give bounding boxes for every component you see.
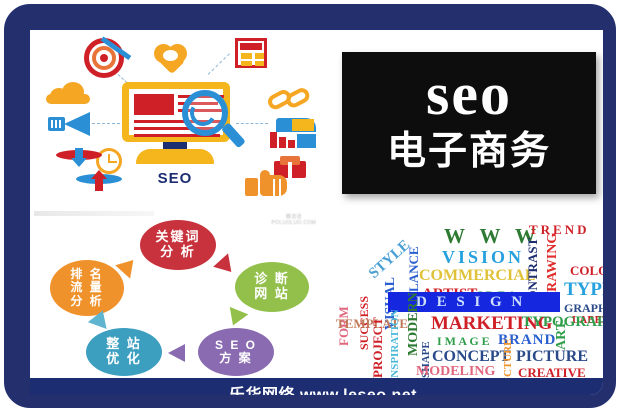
cycle-arrow-red [213, 253, 239, 278]
bar-chart-icon [270, 118, 316, 148]
node-line: 分 析 [160, 245, 196, 260]
tile-seo-infographic: SEO [30, 30, 322, 206]
word-modeling: MODELING [416, 364, 495, 378]
word-picture: PICTURE [516, 348, 588, 366]
tile-seo-black-plate: seo 电子商务 [326, 30, 616, 206]
seo-infographic-illustration: SEO [30, 30, 322, 206]
cycle-arrow-green [224, 307, 249, 329]
clock-hand-2-icon [108, 161, 117, 163]
node-line: 网 站 [254, 287, 290, 302]
monitor-base [136, 149, 214, 164]
calculator-icon [235, 38, 267, 68]
caption-text: 乐华网络 www.leseo.net [229, 381, 417, 405]
cycle-node-keyword-analysis: 关键词 分 析 [140, 220, 216, 270]
chain-link-icon [264, 76, 315, 120]
content-area: SEO seo 电子商务 赣洽洽 POLUOLUO.COM 关键词 分 析 [30, 30, 616, 408]
word-inspiration: INSPIRATION [389, 309, 401, 378]
tile-seo-cycle-diagram: 赣洽洽 POLUOLUO.COM 关键词 分 析 诊 断 网 站 S E O 方… [30, 210, 322, 378]
node-line: 方 案 [219, 352, 252, 365]
scan-artifact [34, 211, 154, 216]
arrow-badge-up-icon [76, 170, 122, 192]
node-line: 整 站 [106, 337, 142, 352]
node-line: 关键词 [155, 230, 200, 245]
node-line: 优 化 [106, 352, 142, 367]
word-creative: CREATIVE [518, 365, 586, 378]
seo-black-plate: seo 电子商务 [342, 52, 596, 194]
navy-rounded-frame: SEO seo 电子商务 赣洽洽 POLUOLUO.COM 关键词 分 析 [4, 4, 616, 408]
word-vision: VISION [442, 247, 524, 268]
word-image: I M A G E [437, 334, 490, 349]
cycle-node-seo-plan: S E O 方 案 [198, 328, 274, 376]
node-line: 诊 断 [254, 272, 290, 287]
word-project: PROJECT [370, 317, 386, 378]
word-modern: MODERN [406, 292, 422, 356]
seo-cycle-illustration: 赣洽洽 POLUOLUO.COM 关键词 分 析 诊 断 网 站 S E O 方… [30, 210, 322, 378]
seo-infographic-label: SEO [136, 170, 214, 187]
monitor-neck [163, 142, 187, 149]
word-type: TYPE [564, 279, 615, 301]
megaphone-icon [48, 112, 90, 136]
heart-icon [154, 44, 188, 70]
tile-design-word-cloud: FORM SUCCESS STYLE VISUAL BALANCE W W W … [326, 210, 616, 378]
connector-line-right [236, 123, 268, 124]
word-art: ART [554, 321, 570, 350]
seo-plate-title: seo [342, 64, 596, 124]
image-collage: SEO seo 电子商务 赣洽洽 POLUOLUO.COM 关键词 分 析 [30, 30, 616, 378]
watermark: 赣洽洽 POLUOLUO.COM [272, 214, 316, 226]
caption-bar: 乐华网络 www.leseo.net [30, 378, 616, 408]
thumbs-up-icon [245, 170, 287, 196]
monitor-image-block [134, 94, 174, 115]
connector-line-left [92, 123, 120, 124]
screenshot-root: SEO seo 电子商务 赣洽洽 POLUOLUO.COM 关键词 分 析 [0, 0, 620, 412]
cycle-node-rank-traffic-analysis: 排 名 流 量 分 析 [50, 260, 124, 316]
word-cloud-illustration: FORM SUCCESS STYLE VISUAL BALANCE W W W … [326, 210, 616, 378]
target-bullseye [100, 54, 108, 62]
word-trend: TREND [529, 222, 590, 238]
connector-line-top-right [208, 53, 230, 75]
word-design: D E S I G N [416, 294, 525, 311]
node-line: 分 析 [70, 295, 103, 308]
word-picture-vertical: PICTURE [502, 338, 514, 378]
node-line: S E O [215, 339, 257, 352]
seo-plate-subtitle: 电子商务 [342, 130, 596, 174]
cycle-node-site-diagnosis: 诊 断 网 站 [235, 262, 309, 312]
cycle-arrow-purple [168, 344, 185, 362]
word-color: COLOR [570, 263, 616, 279]
cloud-icon [46, 82, 90, 104]
word-commercial: COMMERCIAL [419, 267, 535, 285]
watermark-en: POLUOLUO.COM [272, 220, 316, 226]
cycle-node-site-optimization: 整 站 优 化 [86, 328, 162, 376]
node-line: 流 量 [70, 281, 103, 294]
arrow-badge-down-icon [56, 146, 102, 168]
